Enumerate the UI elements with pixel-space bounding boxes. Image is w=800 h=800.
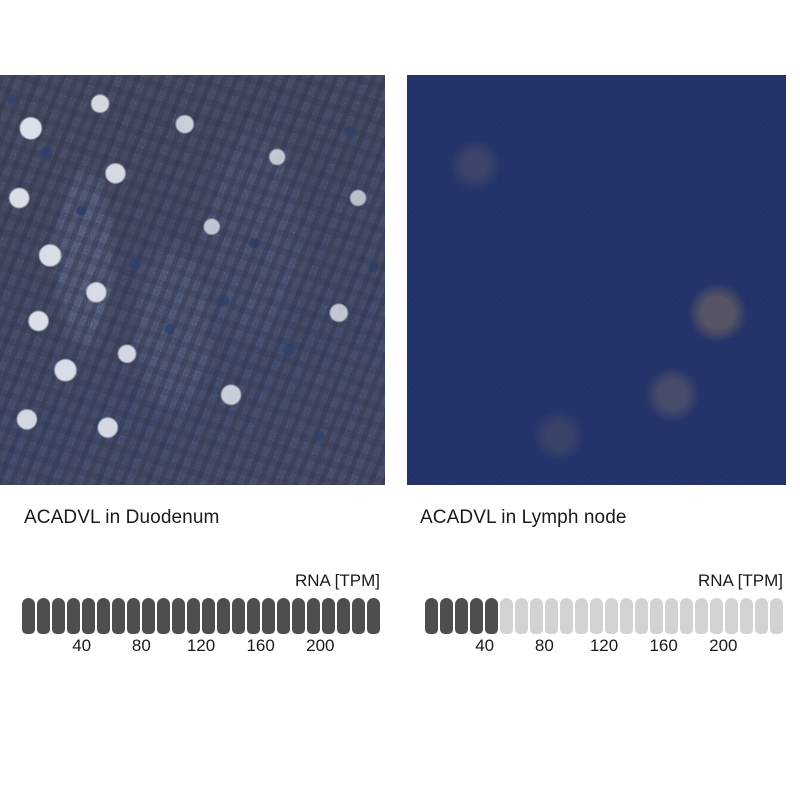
gauge-segment	[52, 598, 65, 634]
gauge-segment	[97, 598, 110, 634]
gauge-segment	[500, 598, 513, 634]
micrograph-lymph-node	[407, 75, 786, 485]
rna-gauge-duodenum: RNA [TPM] 4080120160200	[22, 570, 380, 660]
gauge-segment	[755, 598, 768, 634]
gauge-tick-label: 200	[709, 636, 737, 656]
gauge-segment	[217, 598, 230, 634]
panel-lymph-node	[407, 75, 786, 485]
caption-duodenum: ACADVL in Duodenum	[24, 507, 219, 529]
gauge-segment	[590, 598, 603, 634]
gauge-segment	[292, 598, 305, 634]
gauge-segment	[112, 598, 125, 634]
gauge-tick-label: 80	[535, 636, 554, 656]
gauge-segment	[367, 598, 380, 634]
rna-gauge-lymph-node: RNA [TPM] 4080120160200	[425, 570, 783, 660]
gauge-tick-label: 120	[187, 636, 215, 656]
micrograph-duodenum	[0, 75, 385, 485]
gauge-segment	[425, 598, 438, 634]
gauge-segment	[485, 598, 498, 634]
gauge-segment	[560, 598, 573, 634]
gauge-segment	[725, 598, 738, 634]
gauge-segment	[470, 598, 483, 634]
gauge-tick-label: 120	[590, 636, 618, 656]
gauge-segment	[337, 598, 350, 634]
gauge-tick-label: 40	[72, 636, 91, 656]
rna-gauge-ticks-lymph-node: 4080120160200	[425, 636, 783, 660]
gauge-segment	[187, 598, 200, 634]
rna-tpm-label-duodenum: RNA [TPM]	[22, 570, 380, 592]
gauge-segment	[635, 598, 648, 634]
gauge-tick-label: 40	[475, 636, 494, 656]
gauge-segment	[680, 598, 693, 634]
gauge-tick-label: 200	[306, 636, 334, 656]
gauge-segment	[665, 598, 678, 634]
gauge-segment	[67, 598, 80, 634]
gauge-segment	[247, 598, 260, 634]
gauge-segment	[202, 598, 215, 634]
gauge-segment	[515, 598, 528, 634]
hpa-tissue-comparison-figure: ACADVL in Duodenum RNA [TPM] 40801201602…	[0, 0, 800, 800]
gauge-segment	[157, 598, 170, 634]
rna-tpm-label-lymph-node: RNA [TPM]	[425, 570, 783, 592]
gauge-segment	[440, 598, 453, 634]
rna-gauge-bar-lymph-node	[425, 598, 783, 634]
gauge-segment	[455, 598, 468, 634]
gauge-segment	[710, 598, 723, 634]
gauge-tick-label: 160	[649, 636, 677, 656]
gauge-segment	[545, 598, 558, 634]
gauge-segment	[172, 598, 185, 634]
gauge-segment	[127, 598, 140, 634]
gauge-segment	[22, 598, 35, 634]
rna-gauge-ticks-duodenum: 4080120160200	[22, 636, 380, 660]
gauge-segment	[770, 598, 783, 634]
gauge-segment	[352, 598, 365, 634]
gauge-segment	[322, 598, 335, 634]
gauge-segment	[740, 598, 753, 634]
gauge-tick-label: 80	[132, 636, 151, 656]
gauge-segment	[605, 598, 618, 634]
gauge-segment	[307, 598, 320, 634]
gauge-segment	[695, 598, 708, 634]
gauge-segment	[262, 598, 275, 634]
gauge-segment	[82, 598, 95, 634]
gauge-segment	[142, 598, 155, 634]
gauge-tick-label: 160	[246, 636, 274, 656]
panel-duodenum	[0, 75, 385, 485]
gauge-segment	[530, 598, 543, 634]
gauge-segment	[620, 598, 633, 634]
gauge-segment	[277, 598, 290, 634]
gauge-segment	[232, 598, 245, 634]
gauge-segment	[37, 598, 50, 634]
rna-gauge-bar-duodenum	[22, 598, 380, 634]
gauge-segment	[575, 598, 588, 634]
caption-lymph-node: ACADVL in Lymph node	[420, 507, 627, 529]
gauge-segment	[650, 598, 663, 634]
